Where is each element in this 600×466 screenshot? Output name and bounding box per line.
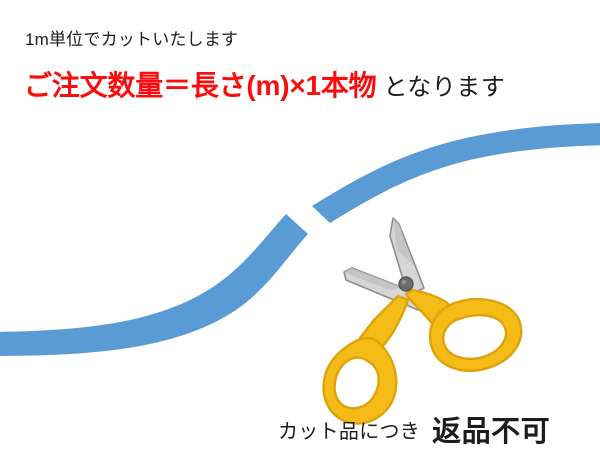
scissor-pivot-highlight	[402, 280, 407, 285]
scissor-pivot-icon	[399, 277, 413, 291]
scissor-handle-loop-bottom	[324, 338, 397, 424]
hose-right-segment	[312, 123, 600, 223]
scissor-handle-loop-right	[430, 299, 521, 371]
illustration	[0, 0, 600, 466]
poster-canvas: 1m単位でカットいたします ご注文数量＝長さ(m)×1本物となります カット品に…	[0, 0, 600, 466]
scissors	[324, 218, 522, 424]
hose-left-segment	[0, 214, 308, 356]
